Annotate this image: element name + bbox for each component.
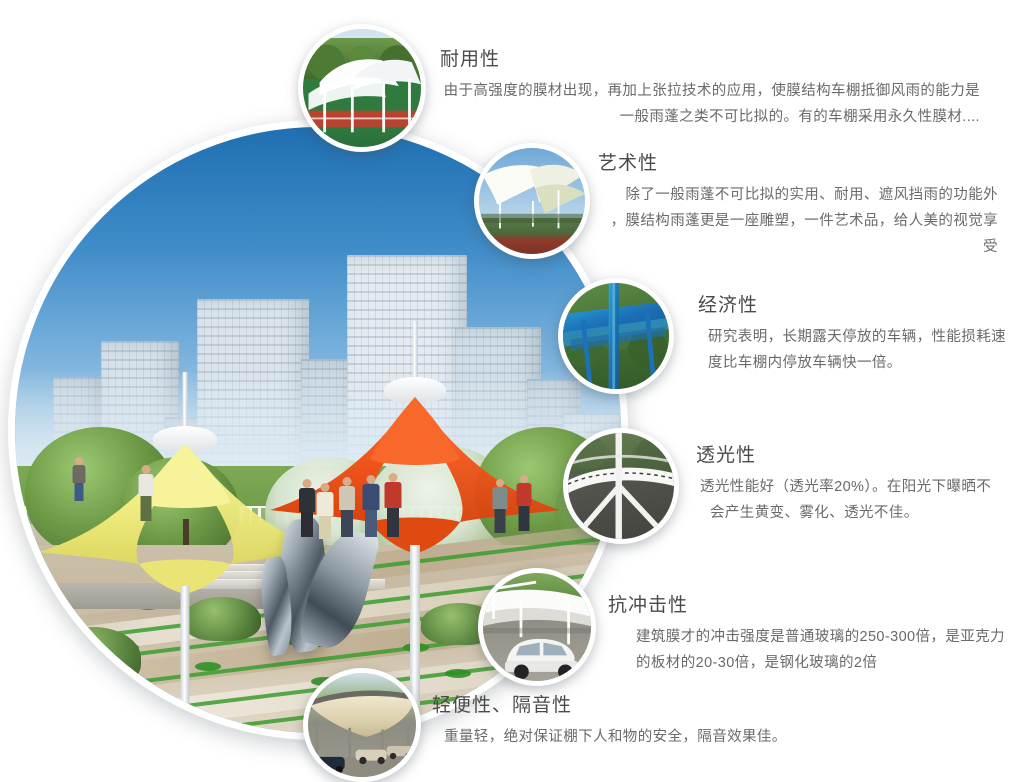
feature-block-durability: 耐用性 由于高强度的膜材出现，再加上张拉技术的应用，使膜结构车棚抵御风雨的能力是… — [440, 44, 980, 130]
pedestrian — [315, 483, 335, 539]
feature-block-light-transmission: 透光性 透光性能好（透光率20%）。在阳光下曝晒不 会产生黄变、雾化、透光不佳。 — [696, 440, 1016, 526]
thumbnail-durability[interactable] — [298, 24, 426, 152]
pedestrian — [337, 477, 357, 537]
pedestrian — [137, 465, 155, 521]
feature-title-impact-resistance: 抗冲击性 — [608, 590, 1008, 617]
feature-line: 一般雨蓬之类不可比拟的。有的车棚采用永久性膜材.... — [440, 104, 980, 130]
feature-line: 由于高强度的膜材出现，再加上张拉技术的应用，使膜结构车棚抵御风雨的能力是 — [440, 78, 980, 104]
pedestrian — [297, 479, 317, 537]
thumbnail-artistry-photo — [479, 148, 585, 254]
pedestrian — [383, 473, 403, 537]
feature-title-light-transmission: 透光性 — [696, 440, 1016, 467]
infographic-canvas: 耐用性 由于高强度的膜材出现，再加上张拉技术的应用，使膜结构车棚抵御风雨的能力是… — [0, 0, 1023, 782]
feature-block-lightweight-soundproof: 轻便性、隔音性 重量轻，绝对保证棚下人和物的安全，隔音效果佳。 — [432, 690, 852, 750]
feature-line: 重量轻，绝对保证棚下人和物的安全，隔音效果佳。 — [432, 724, 852, 750]
thumbnail-light-transmission[interactable] — [563, 428, 679, 544]
feature-line: 会产生黄变、雾化、透光不佳。 — [696, 500, 1016, 526]
shrub — [45, 627, 141, 689]
feature-block-impact-resistance: 抗冲击性 建筑膜才的冲击强度是普通玻璃的250-300倍，是亚克力 的板材的20… — [608, 590, 1008, 676]
feature-title-lightweight-soundproof: 轻便性、隔音性 — [432, 690, 852, 717]
feature-line: 的板材的20-30倍，是钢化玻璃的2倍 — [608, 650, 1008, 676]
thumbnail-economy[interactable] — [558, 278, 674, 394]
thumbnail-impact-resistance[interactable] — [478, 568, 596, 686]
feature-block-artistry: 艺术性 除了一般雨蓬不可比拟的实用、耐用、遮风挡雨的功能外 ，膜结构雨蓬更是一座… — [598, 148, 998, 260]
thumbnail-light-transmission-photo — [568, 433, 674, 539]
feature-line: 度比车棚内停放车辆快一倍。 — [698, 350, 1008, 376]
feature-line: 除了一般雨蓬不可比拟的实用、耐用、遮风挡雨的功能外 — [598, 182, 998, 208]
thumbnail-artistry[interactable] — [474, 143, 590, 259]
feature-block-economy: 经济性 研究表明，长期露天停放的车辆，性能损耗速 度比车棚内停放车辆快一倍。 — [698, 290, 1008, 376]
feature-title-artistry: 艺术性 — [598, 148, 998, 175]
feature-title-economy: 经济性 — [698, 290, 1008, 317]
feature-line: ，膜结构雨蓬更是一座雕塑，一件艺术品，给人美的视觉享受 — [598, 208, 998, 260]
pedestrian — [71, 457, 87, 501]
feature-title-durability: 耐用性 — [440, 44, 980, 71]
feature-line: 研究表明，长期露天停放的车辆，性能损耗速 — [698, 324, 1008, 350]
feature-line: 建筑膜才的冲击强度是普通玻璃的250-300倍，是亚克力 — [608, 624, 1008, 650]
thumbnail-durability-photo — [303, 29, 421, 147]
thumbnail-impact-resistance-photo — [483, 573, 591, 681]
thumbnail-lightweight-soundproof-photo — [308, 673, 416, 777]
pedestrian — [361, 475, 381, 537]
thumbnail-lightweight-soundproof[interactable] — [303, 668, 421, 782]
feature-line: 透光性能好（透光率20%）。在阳光下曝晒不 — [696, 474, 1016, 500]
pedestrian — [491, 479, 509, 533]
pedestrian — [515, 475, 533, 531]
thumbnail-economy-photo — [563, 283, 669, 389]
